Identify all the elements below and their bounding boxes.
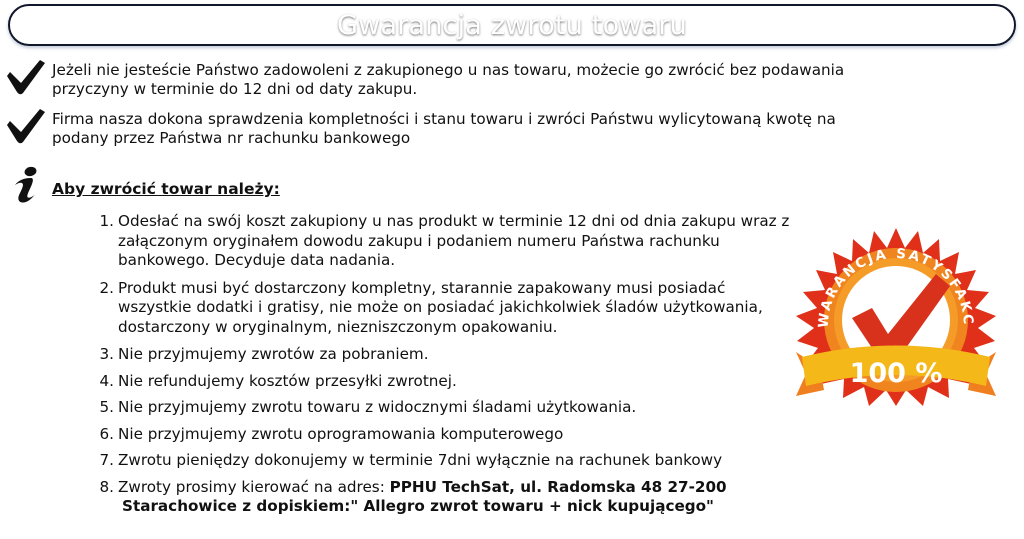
address-line-1: PPHU TechSat, ul. Radomska 48 27-200 <box>390 478 727 496</box>
intro-item: Firma nasza dokona sprawdzenia kompletno… <box>0 107 880 148</box>
satisfaction-guarantee-seal: GWARANCJA SATYSFAKCJI 100 % <box>790 222 1002 412</box>
seal-ribbon-text: 100 % <box>850 358 943 389</box>
list-item-address: Zwroty prosimy kierować na adres: PPHU T… <box>96 478 796 517</box>
list-item: Nie przyjmujemy zwrotu towaru z widoczny… <box>96 398 796 418</box>
intro-section: Jeżeli nie jesteście Państwo zadowoleni … <box>0 58 880 156</box>
header-bar: Gwarancja zwrotu towaru <box>8 4 1016 46</box>
page-header: Gwarancja zwrotu towaru <box>0 0 1024 52</box>
list-item: Odesłać na swój koszt zakupiony u nas pr… <box>96 212 796 271</box>
seal-ribbon: 100 % <box>796 346 996 397</box>
list-item: Nie przyjmujemy zwrotu oprogramowania ko… <box>96 425 796 445</box>
instructions-list: Odesłać na swój koszt zakupiony u nas pr… <box>0 212 796 517</box>
check-icon <box>0 58 52 96</box>
page-title: Gwarancja zwrotu towaru <box>10 6 1014 46</box>
address-line-2: Starachowice z dopiskiem:" Allegro zwrot… <box>118 497 796 517</box>
list-item: Nie refundujemy kosztów przesyłki zwrotn… <box>96 372 796 392</box>
list-item: Nie przyjmujemy zwrotów za pobraniem. <box>96 345 796 365</box>
address-lead: Zwroty prosimy kierować na adres: <box>118 478 390 496</box>
info-icon <box>0 166 52 206</box>
intro-item-text: Jeżeli nie jesteście Państwo zadowoleni … <box>52 58 880 99</box>
intro-item-text: Firma nasza dokona sprawdzenia kompletno… <box>52 107 880 148</box>
check-icon <box>0 107 52 145</box>
intro-item: Jeżeli nie jesteście Państwo zadowoleni … <box>0 58 880 99</box>
list-item: Zwrotu pieniędzy dokonujemy w terminie 7… <box>96 451 796 471</box>
list-item: Produkt musi być dostarczony kompletny, … <box>96 279 796 338</box>
instructions-heading: Aby zwrócić towar należy: <box>52 166 280 198</box>
instructions-heading-row: Aby zwrócić towar należy: <box>0 166 1024 206</box>
